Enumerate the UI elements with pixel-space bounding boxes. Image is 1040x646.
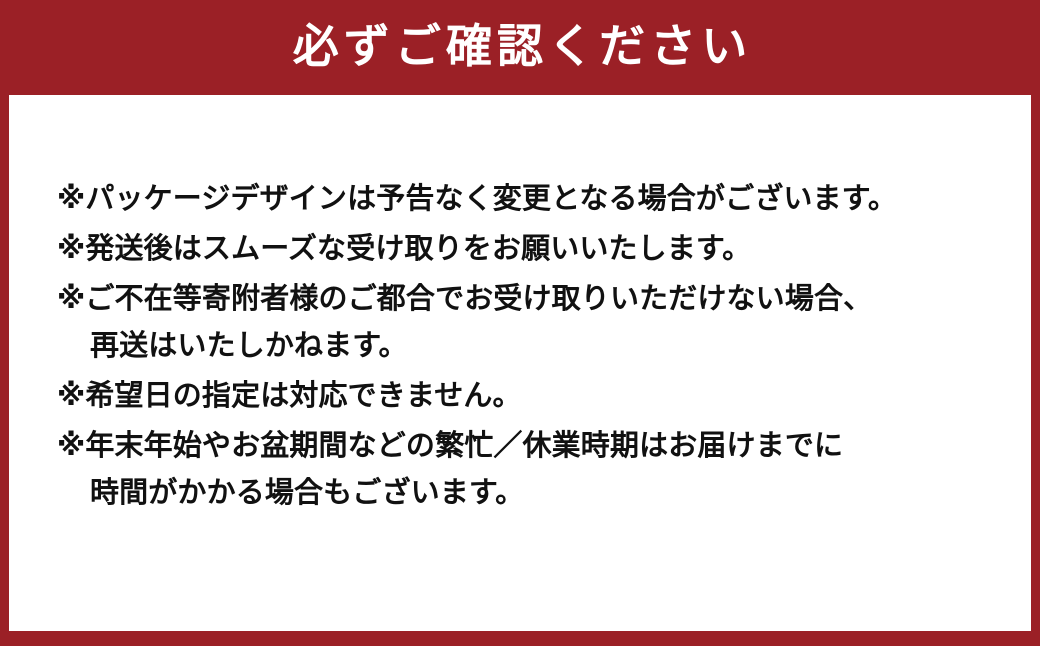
list-item: ※発送後はスムーズな受け取りをお願いいたします。 bbox=[57, 235, 1031, 264]
page-title: 必ずご確認ください bbox=[288, 23, 753, 69]
notice-line: ※パッケージデザインは予告なく変更となる場合がございます。 bbox=[57, 185, 1031, 214]
list-item: ※希望日の指定は対応できません。 bbox=[57, 382, 1031, 411]
notice-line: ※年末年始やお盆期間などの繁忙／休業時期はお届けまでに bbox=[57, 432, 1031, 461]
notice-line: ※希望日の指定は対応できません。 bbox=[57, 382, 1031, 411]
list-item: ※年末年始やお盆期間などの繁忙／休業時期はお届けまでに 時間がかかる場合もござい… bbox=[57, 432, 1031, 508]
list-item: ※パッケージデザインは予告なく変更となる場合がございます。 bbox=[57, 185, 1031, 214]
notice-line-continued: 再送はいたしかねます。 bbox=[57, 332, 1031, 361]
notice-body: ※パッケージデザインは予告なく変更となる場合がございます。 ※発送後はスムーズな… bbox=[57, 95, 1031, 631]
notice-line: ※ご不在等寄附者様のご都合でお受け取りいただけない場合、 bbox=[57, 285, 1031, 314]
notice-line-continued: 時間がかかる場合もございます。 bbox=[57, 479, 1031, 508]
notice-list: ※パッケージデザインは予告なく変更となる場合がございます。 ※発送後はスムーズな… bbox=[57, 185, 1031, 508]
notice-card: 必ずご確認ください ※パッケージデザインは予告なく変更となる場合がございます。 … bbox=[0, 0, 1040, 646]
list-item: ※ご不在等寄附者様のご都合でお受け取りいただけない場合、 再送はいたしかねます。 bbox=[57, 285, 1031, 361]
notice-line: ※発送後はスムーズな受け取りをお願いいたします。 bbox=[57, 235, 1031, 264]
notice-header-banner: 必ずご確認ください bbox=[0, 0, 1040, 95]
